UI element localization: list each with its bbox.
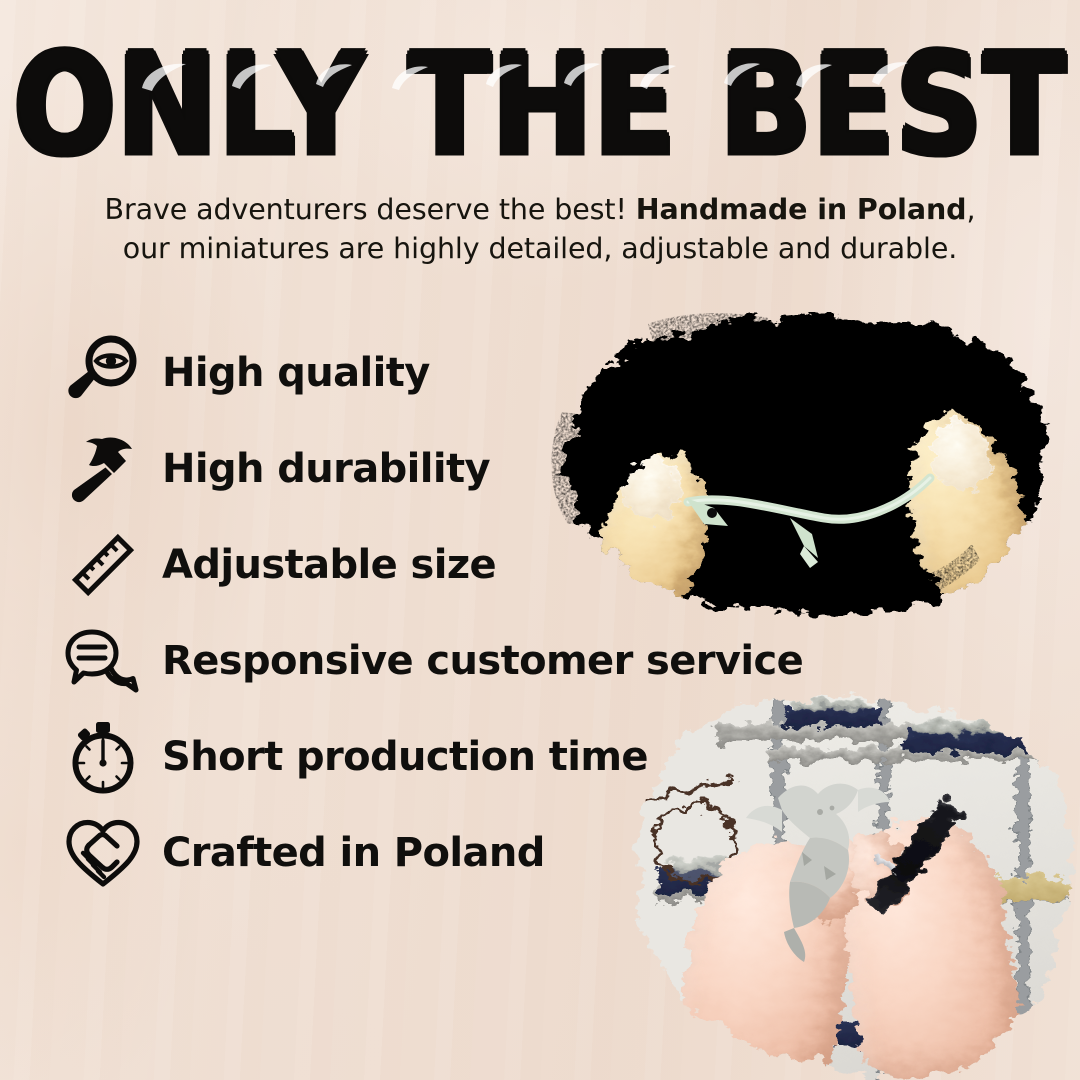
- page-title: ONLY THE BEST: [0, 34, 1080, 173]
- stopwatch-icon: [62, 716, 144, 798]
- feature-label: Adjustable size: [162, 545, 496, 585]
- torn-ink-frame-top: [528, 312, 1068, 620]
- heart-handshake-icon: [62, 812, 144, 894]
- work-board: [994, 878, 1080, 900]
- feature-label: Short production time: [162, 737, 648, 777]
- hammer-icon: [62, 428, 144, 510]
- feature-label: Crafted in Poland: [162, 833, 545, 873]
- miniature-in-fingers-photo: [528, 312, 1068, 620]
- feature-label: Responsive customer service: [162, 641, 803, 681]
- parts-cluster-a: [792, 700, 870, 710]
- shelf-board-top: [716, 724, 1080, 741]
- workshop-crafting-photo: [596, 690, 1080, 1080]
- subtitle-line1-tail: ,: [966, 193, 975, 226]
- subtitle: Brave adventurers deserve the best! Hand…: [60, 190, 1020, 269]
- feature-graphic-canvas: ONLY THE BEST Brave adventurers deserve …: [0, 0, 1080, 1080]
- ruler-icon: [62, 524, 144, 606]
- feature-label: High durability: [162, 449, 490, 489]
- subtitle-highlight-handmade-in-poland: Handmade in Poland: [636, 193, 967, 226]
- speech-bubbles-icon: [62, 620, 144, 702]
- feature-label: High quality: [162, 353, 430, 393]
- subtitle-line1-lead: Brave adventurers deserve the best!: [105, 193, 636, 226]
- parts-cluster-b: [914, 720, 1042, 733]
- parts-tray-top-right: [904, 730, 1054, 752]
- magnifier-eye-icon: [62, 332, 144, 414]
- torn-paper-frame-bottom: [596, 690, 1080, 1080]
- subtitle-line2: our miniatures are highly detailed, adju…: [123, 232, 958, 265]
